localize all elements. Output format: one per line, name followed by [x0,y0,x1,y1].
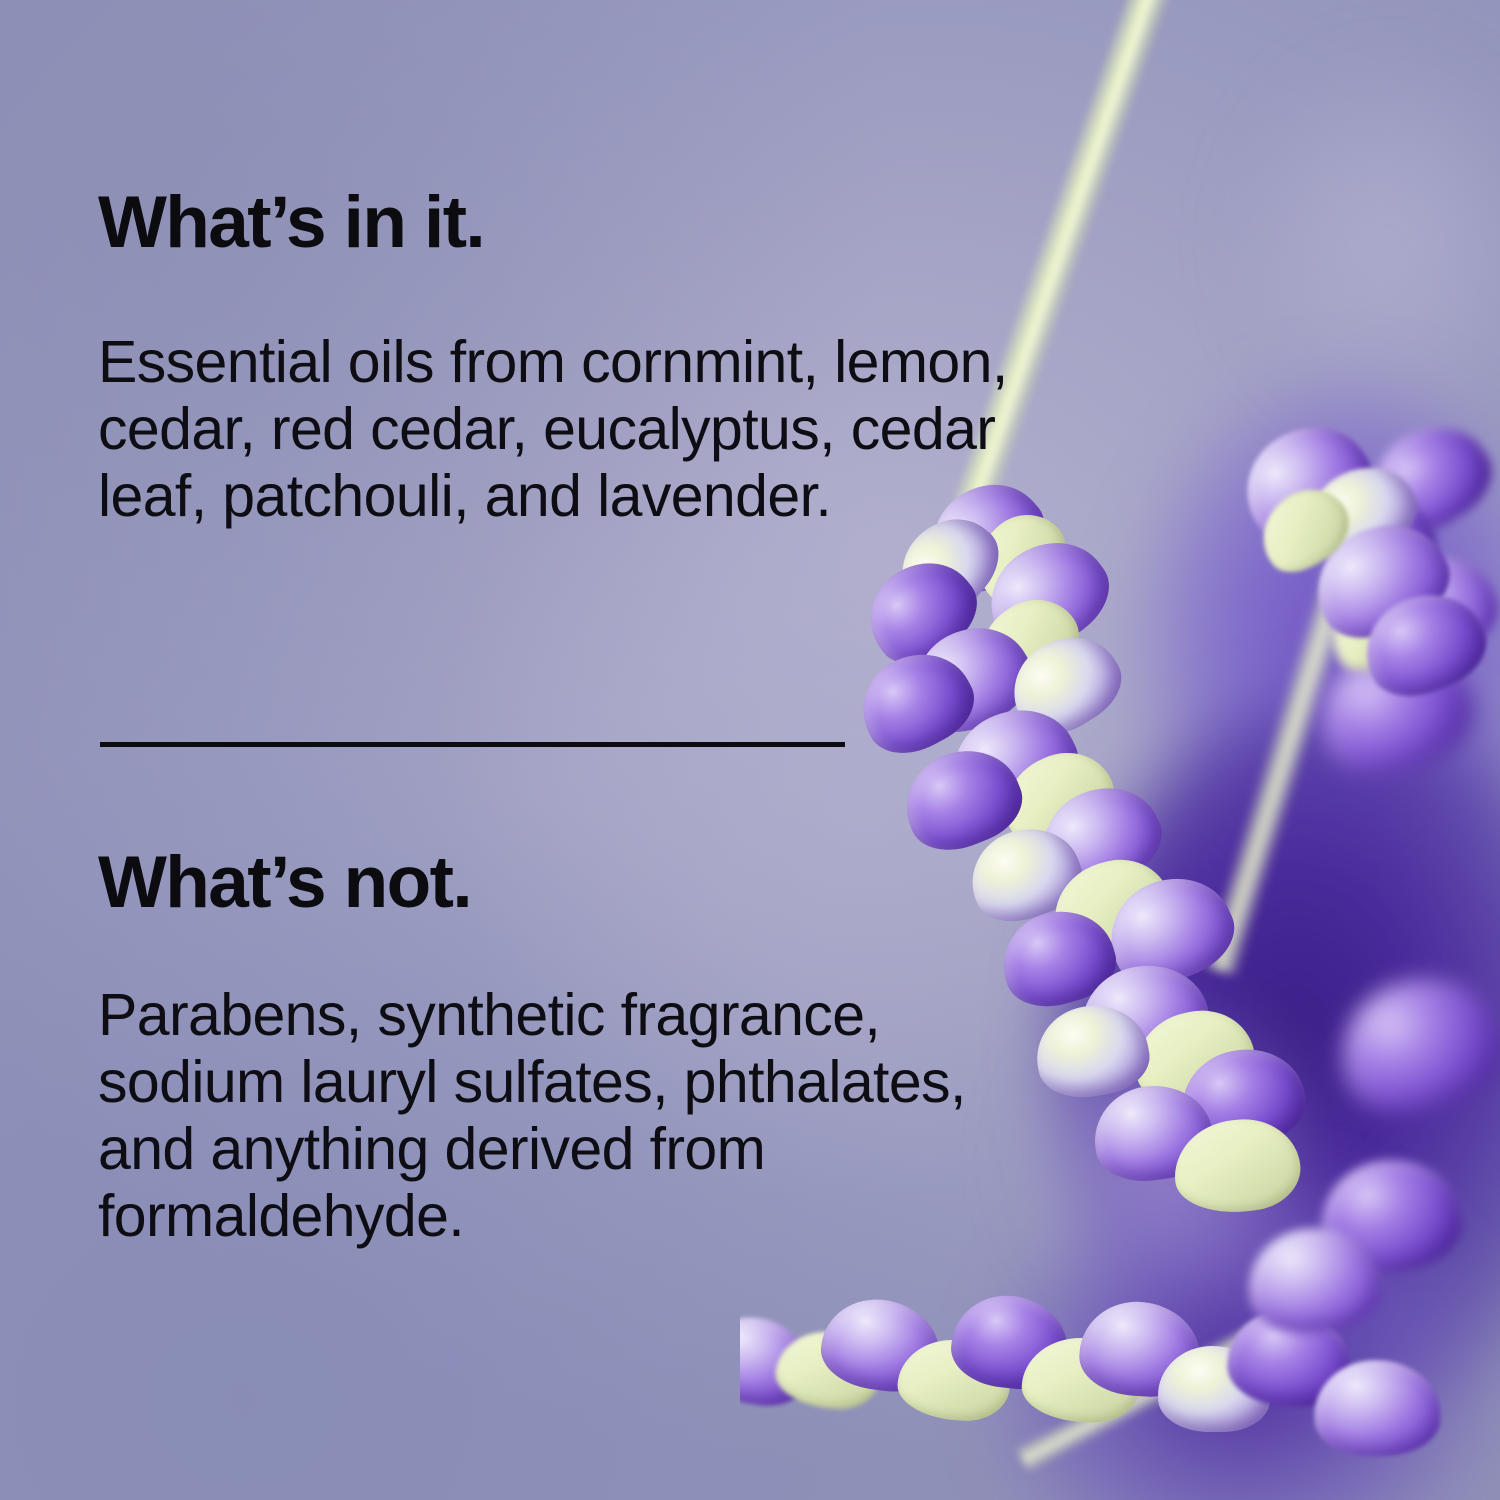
section-heading-whats-not: What’s not. [98,846,471,919]
section-body-whats-in-it: Essential oils from cornmint, lemon, ced… [98,329,1058,530]
ingredient-copy: What’s in it. Essential oils from cornmi… [98,0,1038,1500]
section-body-whats-not: Parabens, synthetic fragrance, sodium la… [98,982,1058,1250]
section-heading-whats-in-it: What’s in it. [98,186,484,259]
section-divider [100,742,845,747]
product-ingredient-panel: What’s in it. Essential oils from cornmi… [0,0,1500,1500]
bokeh-blur-top [1240,60,1500,420]
